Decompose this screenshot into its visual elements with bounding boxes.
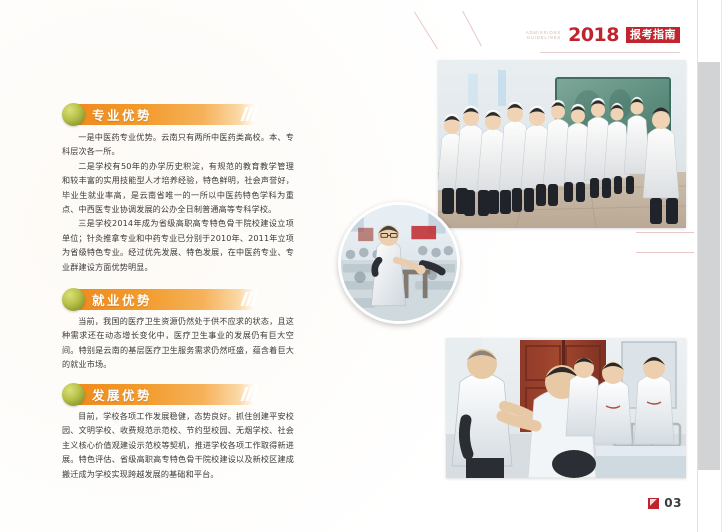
section-heading-employment-advantage: 就业优势	[62, 289, 254, 310]
section-title: 就业优势	[92, 290, 152, 309]
paragraph: 当前，我国的医疗卫生资源仍然处于供不应求的状态，且这种需求还在动态增长变化中，医…	[62, 314, 294, 372]
decorative-leader-line	[636, 252, 694, 253]
heading-bullet-icon	[62, 103, 85, 126]
photo-teacher-demo	[338, 202, 460, 324]
heading-bullet-icon	[62, 288, 85, 311]
facing-page-shadow	[698, 62, 720, 470]
photo-classroom-group-image	[438, 60, 686, 228]
page-edge-strip	[690, 0, 728, 532]
header-english-label: ADMISSIONS GUIDELINES	[526, 30, 561, 41]
section-title: 发展优势	[92, 385, 152, 404]
heading-bullet-icon	[62, 383, 85, 406]
section-title: 专业优势	[92, 105, 152, 124]
photo-clinical-practice	[446, 338, 686, 478]
gutter-line-outer	[697, 0, 698, 532]
heading-slashes-icon	[243, 292, 256, 306]
paragraph: 目前，学校各项工作发展稳健，态势良好。抓住创建平安校园、文明学校、收费规范示范校…	[62, 409, 294, 481]
heading-slashes-icon	[243, 107, 256, 121]
header-english-line2: GUIDELINES	[526, 35, 561, 40]
gutter-line-inner	[721, 0, 722, 532]
paragraph: 三是学校2014年成为省级高职高专特色骨干院校建设立项单位；针灸推拿专业和中药专…	[62, 216, 294, 274]
section-body-development-advantage: 目前，学校各项工作发展稳健，态势良好。抓住创建平安校园、文明学校、收费规范示范校…	[62, 409, 294, 481]
section-body-professional-advantage: 一是中医药专业优势。云南只有两所中医药类高校。本、专科层次各一所。 二是学校有5…	[62, 130, 294, 274]
heading-slashes-icon	[243, 387, 256, 401]
page-number-text: 03	[664, 496, 682, 510]
page-header: ADMISSIONS GUIDELINES 2018 报考指南	[526, 24, 680, 46]
page-number-marker-icon	[648, 498, 659, 509]
page-number: 03	[648, 496, 682, 510]
decorative-leader-line	[636, 232, 694, 233]
header-badge: 报考指南	[626, 27, 680, 43]
section-heading-development-advantage: 发展优势	[62, 384, 254, 405]
section-body-employment-advantage: 当前，我国的医疗卫生资源仍然处于供不应求的状态，且这种需求还在动态增长变化中，医…	[62, 314, 294, 372]
photo-teacher-demo-image	[341, 205, 457, 321]
photo-classroom-group	[438, 60, 686, 228]
section-heading-professional-advantage: 专业优势	[62, 104, 254, 125]
header-year: 2018	[568, 24, 619, 46]
paragraph: 二是学校有50年的办学历史积淀，有规范的教育教学管理和较丰富的实用技能型人才培养…	[62, 159, 294, 217]
header-rule	[540, 52, 680, 53]
photo-clinical-practice-image	[446, 338, 686, 478]
brochure-page: ADMISSIONS GUIDELINES 2018 报考指南 专业优势 一是中…	[0, 0, 728, 532]
paragraph: 一是中医药专业优势。云南只有两所中医药类高校。本、专科层次各一所。	[62, 130, 294, 159]
